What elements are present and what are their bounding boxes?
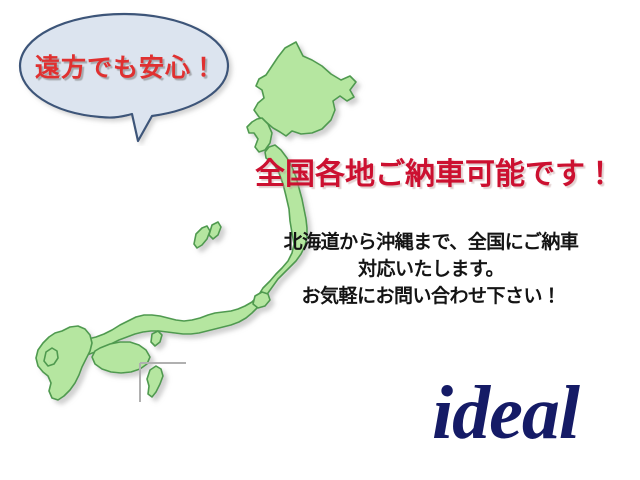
okinawa-inset-bracket bbox=[140, 363, 186, 402]
headline-text: 全国各地ご納車可能です！ bbox=[255, 149, 635, 193]
speech-bubble: 遠方でも安心！ bbox=[14, 10, 238, 146]
body-copy-line-1: 北海道から沖縄まで、全国にご納車 bbox=[248, 229, 614, 256]
body-copy-line-2: 対応いたします。 bbox=[248, 256, 614, 283]
brand-logo: ideal bbox=[432, 377, 602, 449]
region-hokkaido bbox=[254, 42, 356, 136]
region-noto bbox=[194, 226, 210, 248]
region-kyushu bbox=[36, 326, 92, 400]
promo-banner: 遠方でも安心！ 全国各地ご納車可能です！ 北海道から沖縄まで、全国にご納車 対応… bbox=[0, 0, 640, 480]
body-copy-line-3: お気軽にお問い合わせ下さい！ bbox=[248, 283, 614, 310]
region-awaji bbox=[151, 331, 162, 346]
region-sado bbox=[209, 222, 221, 239]
region-okinawa bbox=[147, 366, 163, 397]
speech-bubble-shape bbox=[14, 10, 238, 146]
body-copy: 北海道から沖縄まで、全国にご納車 対応いたします。 お気軽にお問い合わせ下さい！ bbox=[248, 229, 614, 310]
